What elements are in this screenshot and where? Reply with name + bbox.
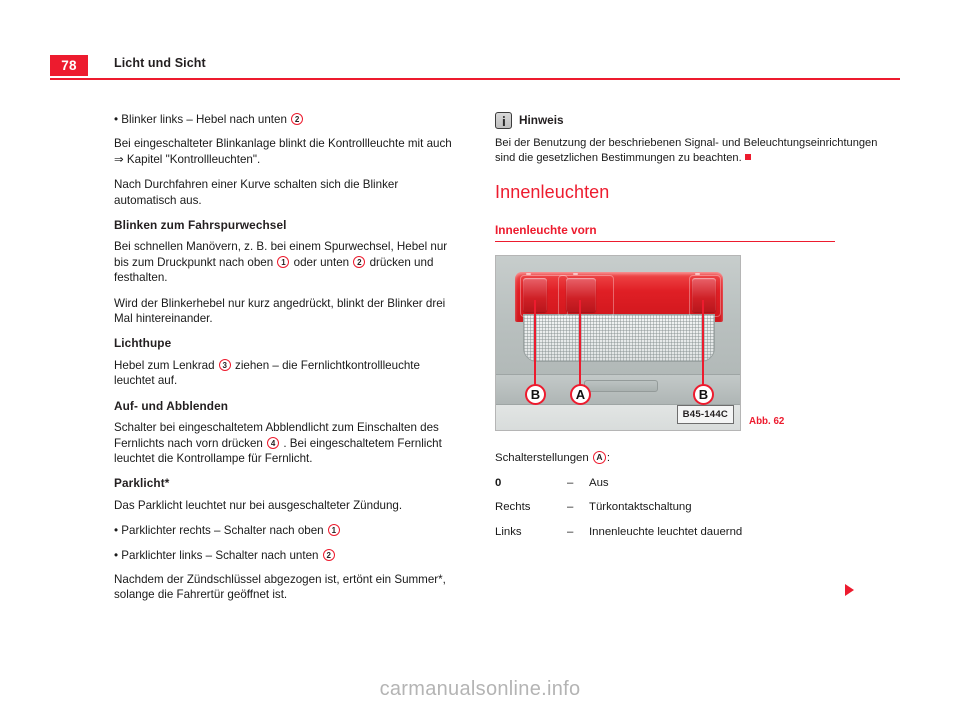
paragraph-blinkanlage: Bei eingeschalteter Blinkanlage blinkt d… [114,136,459,167]
subsection-header: Innenleuchte vorn [495,223,900,243]
figure-image-code: B45-144C [677,405,734,424]
paragraph-manoever: Bei schnellen Manövern, z. B. bei einem … [114,239,459,285]
end-of-section-marker [745,154,751,160]
reference-marker-1b: 1 [328,524,340,536]
switch-positions-table: 0 – Aus Rechts – Türkontaktschaltung Lin… [495,476,742,549]
reference-marker-1: 1 [277,256,289,268]
note-block: Hinweis Bei der Benutzung der beschriebe… [495,112,900,165]
subsection-divider [495,241,835,242]
bullet-blinker-links: • Blinker links – Hebel nach unten 2 [114,112,459,127]
footer-watermark: carmanualsonline.info [0,678,960,701]
bullet-parklicht-rechts: • Parklichter rechts – Schalter nach obe… [114,523,459,538]
bullet-parklicht-links-text: • Parklichter links – Schalter nach unte… [114,549,318,562]
subsection-title: Innenleuchte vorn [495,223,900,238]
heading-fahrspurwechsel: Blinken zum Fahrspurwechsel [114,218,459,233]
paragraph-abblenden: Schalter bei eingeschaltetem Abblendlich… [114,420,459,466]
note-header: Hinweis [495,112,900,129]
leader-line-b-left [534,300,536,390]
paragraph-parklicht: Das Parklicht leuchtet nur bei ausgescha… [114,498,459,513]
bullet-parklicht-links: • Parklichter links – Schalter nach unte… [114,548,459,563]
leader-line-a [579,300,581,390]
info-icon-stem [502,119,504,126]
figure-container: B A B B45-144C Abb. 62 [495,255,743,431]
note-title: Hinweis [519,113,564,128]
paragraph-kurve: Nach Durchfahren einer Kurve schalten si… [114,177,459,208]
switch-positions-label: Schalterstellungen [495,452,589,464]
switch-description-0: Aus [589,476,742,500]
section-title: Innenleuchten [495,185,900,200]
continuation-arrow-icon [845,584,854,596]
table-row: Links – Innenleuchte leuchtet dauernd [495,525,742,549]
bullet-parklicht-rechts-text: • Parklichter rechts – Schalter nach obe… [114,524,324,537]
info-icon [495,112,512,129]
leader-line-b-right [702,300,704,390]
paragraph-kurz-angedrueckt: Wird der Blinkerhebel nur kurz angedrück… [114,296,459,327]
reference-marker-4: 4 [267,437,279,449]
interior-light-illustration: B A B B45-144C [495,255,741,431]
reference-marker-2c: 2 [323,549,335,561]
page-header: 78 Licht und Sicht [0,55,960,81]
bullet-blinker-links-text: • Blinker links – Hebel nach unten [114,113,287,126]
switch-positions-intro: Schalterstellungen A: [495,451,900,466]
page-number: 78 [50,55,88,76]
right-text-column: Hinweis Bei der Benutzung der beschriebe… [495,112,900,549]
grab-handle [584,380,658,392]
heading-lichthupe: Lichthupe [114,336,459,351]
reference-marker-a: A [593,451,606,464]
paragraph-lichthupe-part1: Hebel zum Lenkrad [114,359,215,372]
page-title: Licht und Sicht [114,56,206,70]
lamp-lens [523,314,715,362]
paragraph-zuendschluessel: Nachdem der Zündschlüssel abgezogen ist,… [114,572,459,603]
left-text-column: • Blinker links – Hebel nach unten 2 Bei… [114,112,459,613]
heading-abblenden: Auf- und Abblenden [114,399,459,414]
figure-caption: Abb. 62 [749,414,784,429]
note-body-text: Bei der Benutzung der beschriebenen Sign… [495,137,877,164]
table-row: 0 – Aus [495,476,742,500]
note-body: Bei der Benutzung der beschriebenen Sign… [495,136,900,165]
switch-description-1: Türkontaktschaltung [589,500,742,524]
header-divider [50,78,900,80]
info-icon-dot [502,116,504,118]
reference-marker-3: 3 [219,359,231,371]
switch-position-0-label: 0 [495,477,501,489]
heading-parklicht: Parklicht* [114,476,459,491]
table-row: Rechts – Türkontaktschaltung [495,500,742,524]
switch-position-0: 0 [495,476,567,500]
switch-dash-0: – [567,476,589,500]
reference-marker-2b: 2 [353,256,365,268]
switch-positions-colon: : [607,452,610,464]
switch-description-2: Innenleuchte leuchtet dauernd [589,525,742,549]
switch-position-2: Links [495,525,567,549]
switch-position-1: Rechts [495,500,567,524]
reference-marker-2: 2 [291,113,303,125]
paragraph-manoever-part2: oder unten [294,256,349,269]
paragraph-lichthupe: Hebel zum Lenkrad 3 ziehen – die Fernlic… [114,358,459,389]
switch-dash-2: – [567,525,589,549]
switch-dash-1: – [567,500,589,524]
